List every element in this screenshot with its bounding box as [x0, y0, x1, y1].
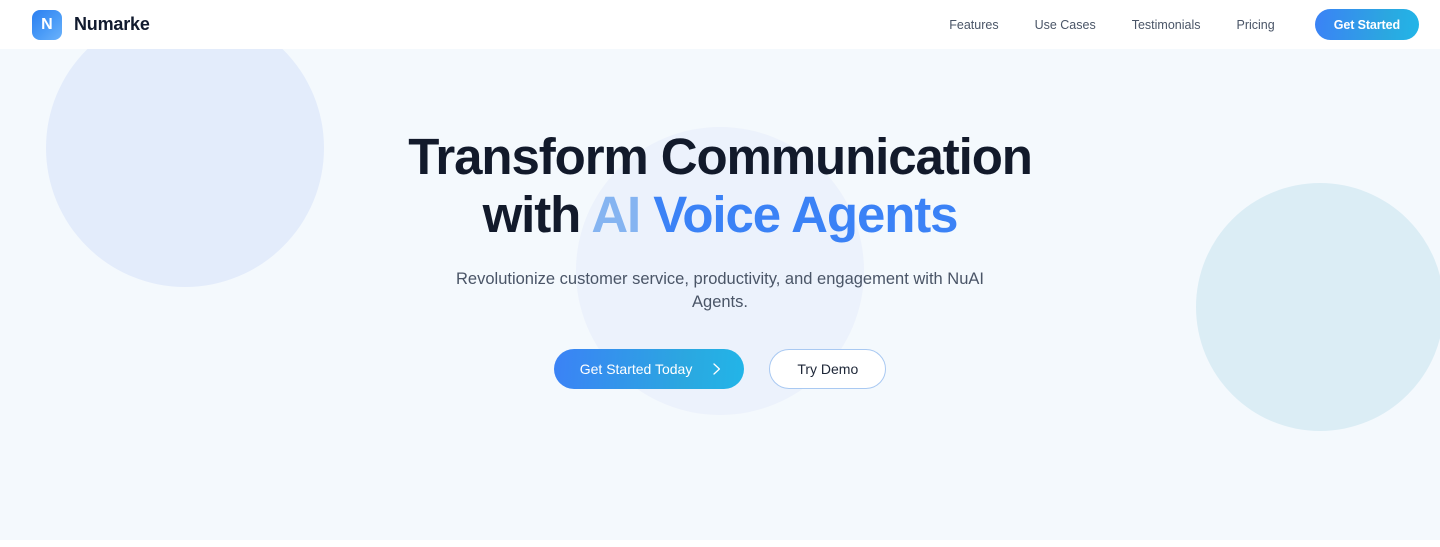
hero-headline: Transform Communication with AI Voice Ag… — [390, 128, 1050, 244]
hero-section: Transform Communication with AI Voice Ag… — [0, 49, 1440, 540]
page-bottom-strip — [0, 540, 1440, 547]
header-get-started-button[interactable]: Get Started — [1315, 9, 1419, 40]
headline-accent-ai: AI — [591, 186, 640, 243]
logo-n-icon: N — [32, 10, 62, 40]
brand-logo[interactable]: N Numarke — [32, 10, 150, 40]
hero-content: Transform Communication with AI Voice Ag… — [0, 49, 1440, 389]
chevron-right-icon — [712, 362, 722, 376]
try-demo-button[interactable]: Try Demo — [769, 349, 886, 389]
get-started-today-label: Get Started Today — [580, 361, 693, 377]
get-started-today-button[interactable]: Get Started Today — [554, 349, 745, 389]
main-navigation: Features Use Cases Testimonials Pricing … — [931, 9, 1440, 40]
headline-accent-voice-agents: Voice Agents — [653, 186, 957, 243]
brand-name: Numarke — [74, 14, 150, 35]
hero-subheadline: Revolutionize customer service, producti… — [428, 268, 1013, 313]
page-root: N Numarke Features Use Cases Testimonial… — [0, 0, 1440, 547]
nav-item-use-cases[interactable]: Use Cases — [1017, 12, 1114, 38]
nav-item-pricing[interactable]: Pricing — [1219, 12, 1293, 38]
hero-cta-row: Get Started Today Try Demo — [0, 349, 1440, 389]
logo-mark-letter: N — [41, 17, 53, 33]
site-header: N Numarke Features Use Cases Testimonial… — [0, 0, 1440, 49]
nav-item-testimonials[interactable]: Testimonials — [1114, 12, 1219, 38]
nav-item-features[interactable]: Features — [931, 12, 1016, 38]
headline-line-1: Transform — [408, 128, 648, 185]
